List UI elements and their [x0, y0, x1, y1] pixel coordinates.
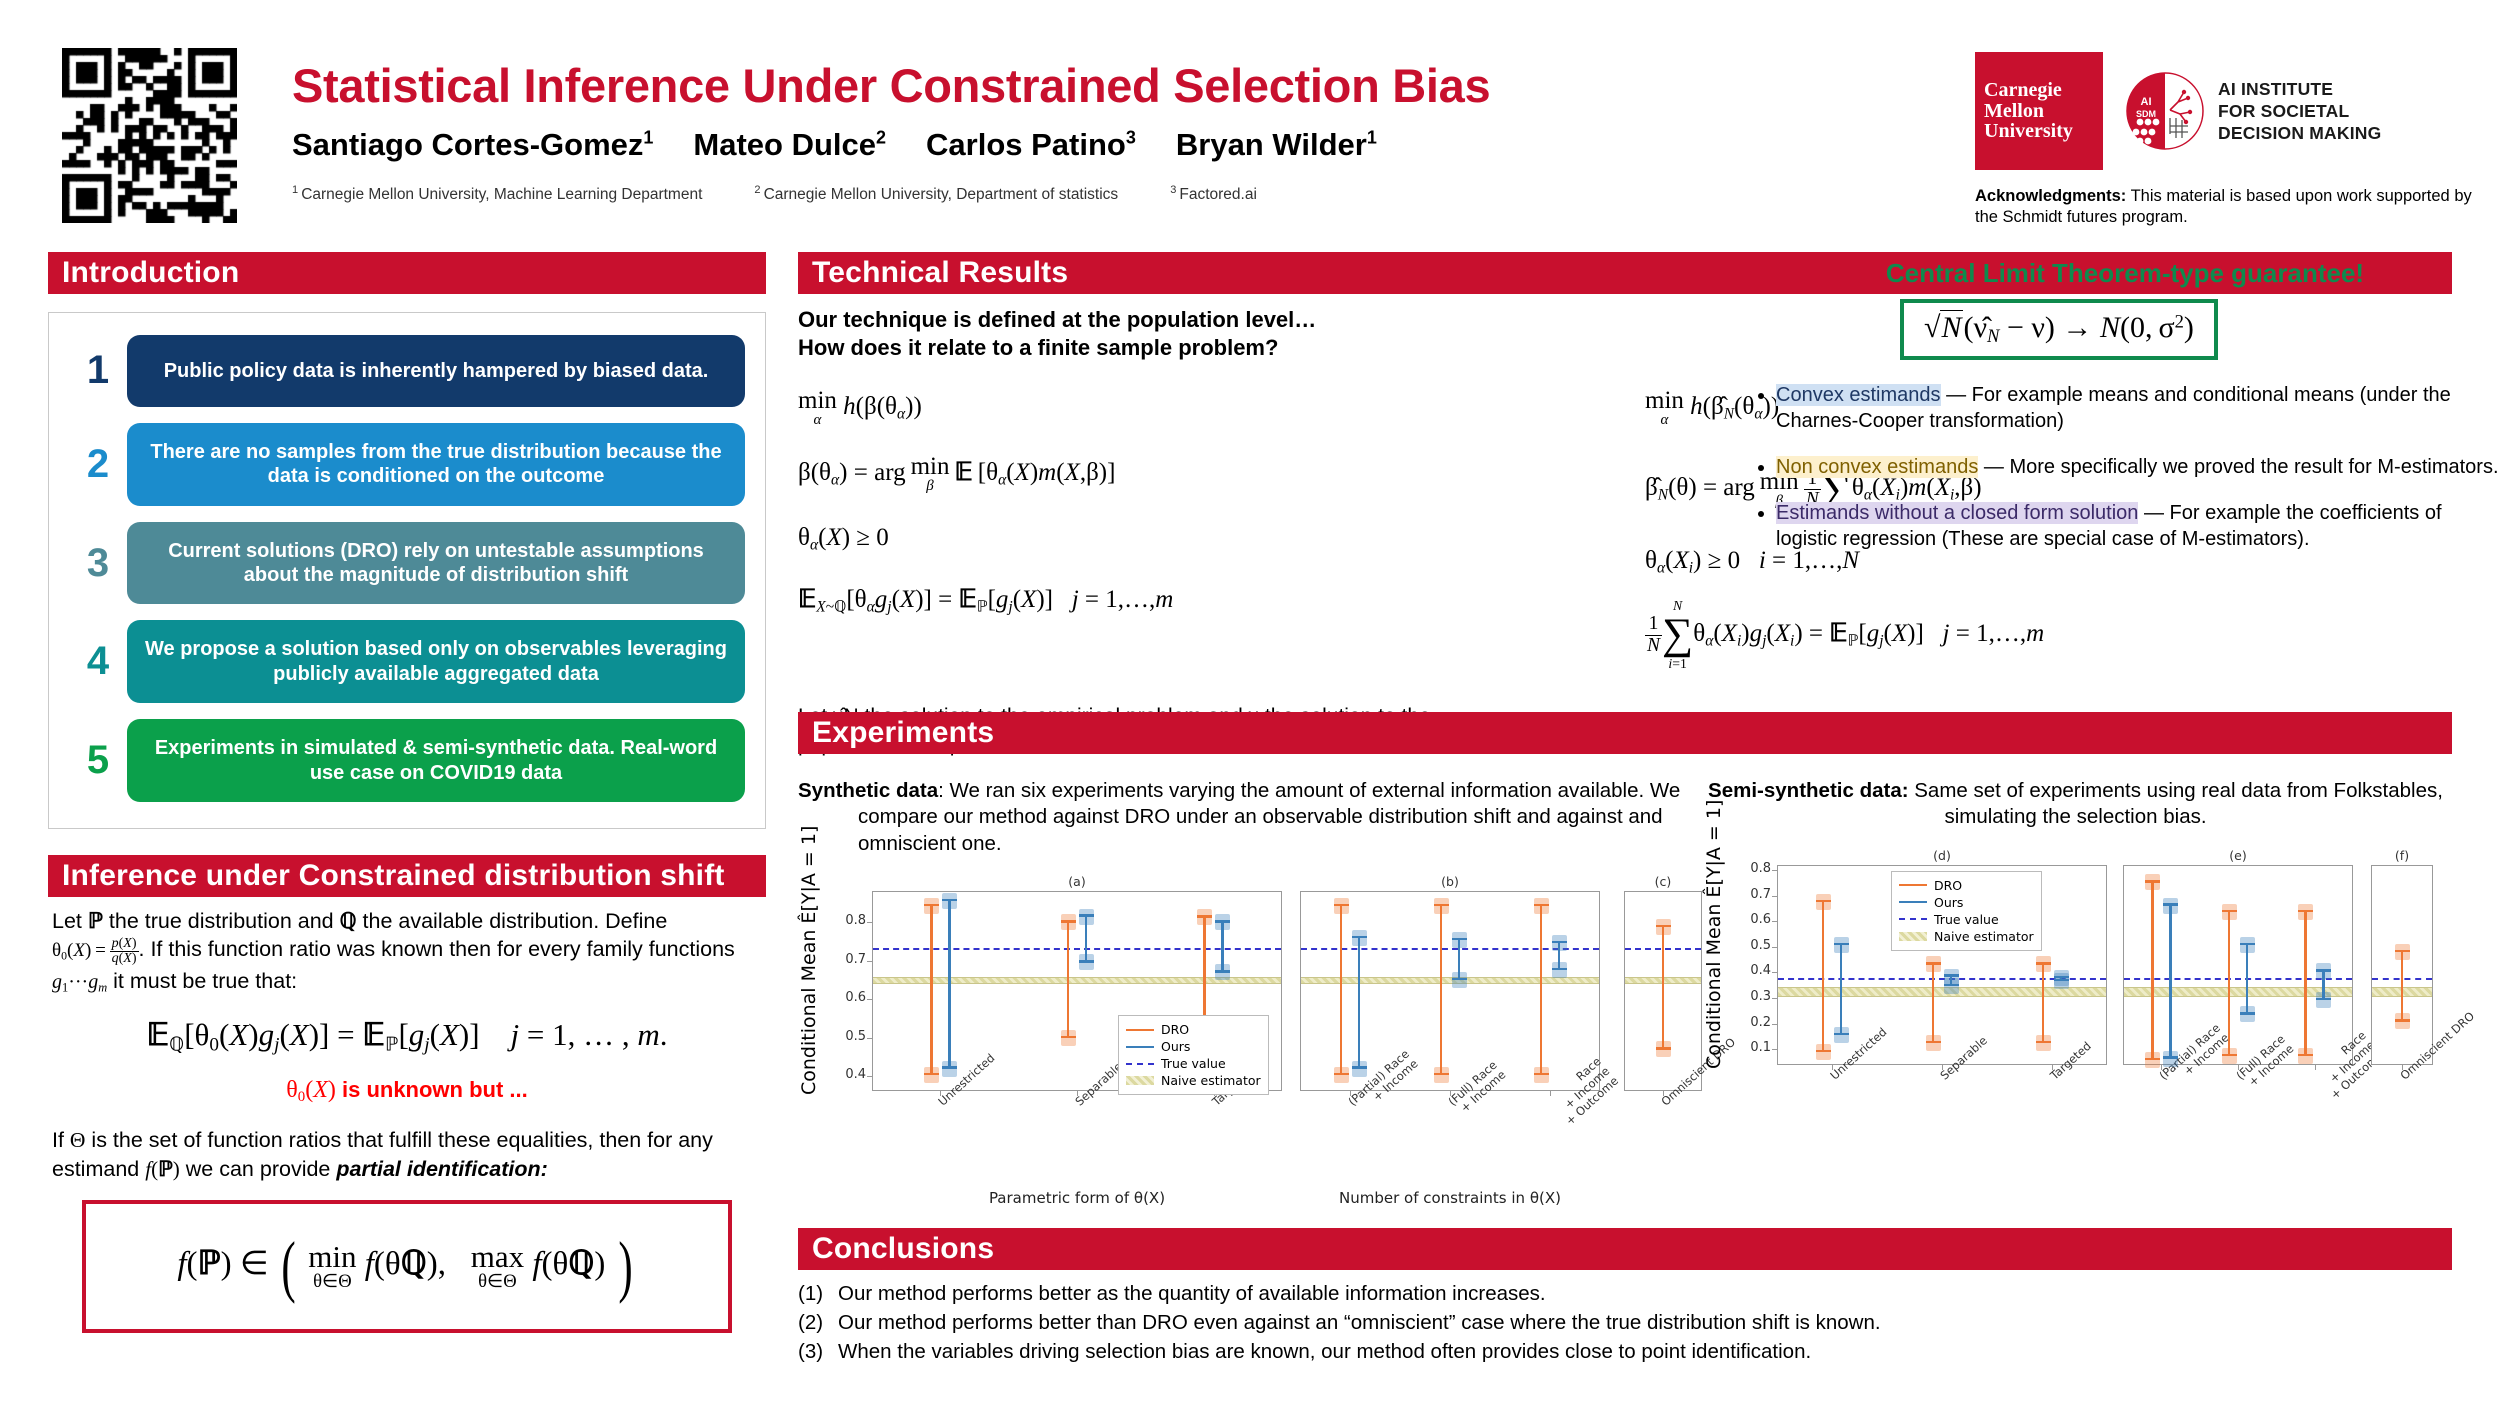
shift-paragraph-2: If Θ is the set of function ratios that … — [52, 1126, 762, 1184]
intro-step-number: 2 — [69, 442, 127, 487]
chart-interval-bar-ours — [1458, 939, 1460, 979]
clt-equation-box: √N(ν̂N − ν) → N(0, σ2) — [1900, 299, 2218, 360]
clt-bullet-highlight: Convex estimands — [1776, 384, 1941, 406]
intro-step-text: Experiments in simulated & semi-syntheti… — [127, 719, 745, 802]
semi-synthetic-experiment-block: Semi-synthetic data: Same set of experim… — [1703, 766, 2448, 1196]
chart-interval-cap — [1834, 943, 1849, 945]
introduction-steps: 1Public policy data is inherently hamper… — [48, 312, 766, 830]
chart-legend: DROOursTrue valueNaive estimator — [1891, 871, 2042, 951]
chart-interval-cap — [1944, 974, 1959, 976]
chart-legend-label: True value — [1161, 1056, 1226, 1071]
chart-interval-cap — [1926, 1041, 1941, 1043]
chart-interval-cap — [1944, 984, 1959, 986]
chart-y-axis-label: Conditional Mean Ê[Y|A = 1] — [1703, 861, 1725, 1069]
chart-legend-label: Ours — [1161, 1039, 1190, 1054]
semi-synthetic-text: Same set of experiments using real data … — [1909, 779, 2443, 829]
shift-paragraph-1: Let ℙ the true distribution and ℚ the av… — [52, 907, 762, 997]
chart-legend: DROOursTrue valueNaive estimator — [1118, 1015, 1269, 1095]
chart-y-tick-label: 0.5 — [1725, 938, 1771, 953]
chart-legend-label: Naive estimator — [1161, 1073, 1261, 1088]
chart-interval-bar-ours — [2322, 970, 2324, 999]
chart-interval-cap — [2036, 962, 2051, 964]
chart-legend-swatch — [1899, 884, 1927, 886]
chart-interval-bar-dro — [2228, 911, 2230, 1055]
chart-y-tick-label: 0.3 — [1725, 989, 1771, 1004]
ai-sdm-mark-icon: AI SDM — [2125, 71, 2205, 151]
chart-interval-cap — [2054, 976, 2069, 978]
chart-legend-label: DRO — [1161, 1022, 1189, 1037]
chart-interval-cap — [1834, 1033, 1849, 1035]
chart-y-tick-label: 0.8 — [820, 913, 866, 928]
clt-bullet: Estimands without a closed form solution… — [1776, 500, 2500, 552]
chart-interval-bar-dro — [2042, 963, 2044, 1042]
chart-interval-bar-dro — [1822, 901, 1824, 1051]
author-name: Bryan Wilder1 — [1176, 127, 1377, 162]
chart-interval-bar-ours — [1558, 942, 1560, 969]
chart-interval-bar-dro — [2304, 911, 2306, 1055]
svg-text:AI: AI — [2141, 96, 2152, 108]
chart-interval-cap — [1656, 1047, 1671, 1049]
conclusion-item: (1)Our method performs better as the qua… — [798, 1279, 2452, 1308]
chart-true-value-line — [873, 948, 1281, 950]
shift-p1-e: it must be true that: — [107, 969, 297, 993]
ai-sdm-logo-text: AI INSTITUTEFOR SOCIETALDECISION MAKING — [2218, 78, 2381, 144]
chart-panel-title: (f) — [2371, 848, 2433, 863]
intro-step-4: 4We propose a solution based only on obs… — [69, 620, 745, 703]
conclusions-list: (1)Our method performs better as the qua… — [798, 1279, 2452, 1366]
chart-interval-cap — [1926, 962, 1941, 964]
chart-y-tick-label: 0.7 — [1725, 887, 1771, 902]
author-name: Mateo Dulce2 — [693, 127, 886, 162]
chart-legend-label: Ours — [1934, 895, 1963, 910]
clt-bullet: Convex estimands — For example means and… — [1776, 382, 2500, 434]
chart-panel-title: (b) — [1300, 874, 1600, 889]
clt-bullet-highlight: Non convex estimands — [1776, 456, 1978, 478]
chart-legend-label: True value — [1934, 912, 1999, 927]
chart-interval-bar-dro — [1932, 963, 1934, 1042]
clt-guarantee-panel: Central Limit Theorem-type guarantee! √N… — [1750, 258, 2500, 572]
chart-panel-title: (a) — [872, 874, 1282, 889]
chart-legend-item: Ours — [1899, 894, 2034, 911]
chart-interval-cap — [942, 899, 957, 901]
chart-legend-swatch — [1899, 932, 1927, 941]
shift-p1-b: the true distribution and — [103, 909, 340, 933]
conclusion-text: Our method performs better than DRO even… — [838, 1308, 1881, 1337]
chart-interval-cap — [1552, 941, 1567, 943]
chart-interval-cap — [2395, 950, 2410, 952]
chart-legend-item: Naive estimator — [1899, 928, 2034, 945]
chart-x-axis-label: Number of constraints in θ(X) — [1270, 1189, 1630, 1207]
chart-y-tick-label: 0.6 — [820, 990, 866, 1005]
theta-unknown-note: θ0(X) is unknown but ... — [52, 1074, 762, 1108]
chart-interval-cap — [2395, 1019, 2410, 1021]
author-name: Santiago Cortes-Gomez1 — [292, 127, 653, 162]
acknowledgments-label: Acknowledgments: — [1975, 187, 2126, 205]
chart-legend-label: Naive estimator — [1934, 929, 2034, 944]
chart-interval-cap — [942, 1066, 957, 1068]
chart-y-tick-label: 0.6 — [1725, 912, 1771, 927]
chart-interval-cap — [1079, 960, 1094, 962]
chart-interval-cap — [1434, 1073, 1449, 1075]
population-eq-3: θα(X) ≥ 0 — [798, 524, 1605, 554]
conclusion-item: (3)When the variables driving selection … — [798, 1337, 2452, 1366]
chart-y-tick-label: 0.2 — [1725, 1015, 1771, 1030]
author-name: Carlos Patino3 — [926, 127, 1136, 162]
chart-interval-cap — [1197, 915, 1212, 917]
chart-interval-cap — [2163, 1056, 2178, 1058]
chart-interval-cap — [2240, 1012, 2255, 1014]
chart-interval-cap — [1452, 978, 1467, 980]
author-list: Santiago Cortes-Gomez1Mateo Dulce2Carlos… — [292, 127, 1417, 163]
chart-legend-swatch — [1899, 901, 1927, 903]
ai-sdm-logo: AI SDM — [2125, 71, 2381, 151]
shift-equation: 𝔼ℚ[θ0(X)gj(X)] = 𝔼ℙ[gj(X)] j = 1, … , m. — [52, 1014, 762, 1058]
chart-interval-bar-dro — [2151, 881, 2153, 1058]
chart-panel-title: (c) — [1624, 874, 1702, 889]
clt-bullet-text: — More specifically we proved the result… — [1978, 456, 2498, 478]
chart-legend-label: DRO — [1934, 878, 1962, 893]
intro-step-text: There are no samples from the true distr… — [127, 423, 745, 506]
intro-step-text: Public policy data is inherently hampere… — [127, 335, 745, 407]
chart-x-axis-label: Parametric form of θ(X) — [842, 1189, 1312, 1207]
intro-step-number: 5 — [69, 738, 127, 783]
chart-y-axis-label: Conditional Mean Ê[Y|A = 1] — [798, 887, 820, 1095]
chart-legend-swatch — [1126, 1046, 1154, 1048]
conclusion-number: (2) — [798, 1308, 838, 1337]
chart-interval-bar-dro — [930, 905, 932, 1074]
population-eq-2: β(θα) = arg minβ 𝔼 [θα(X)m(X,β)] — [798, 454, 1605, 494]
chart-interval-cap — [1079, 914, 1094, 916]
svg-text:SDM: SDM — [2136, 109, 2156, 119]
chart-interval-cap — [1352, 936, 1367, 938]
intro-step-number: 1 — [69, 348, 127, 393]
semi-synthetic-figure: Conditional Mean Ê[Y|A = 1]0.10.20.30.40… — [1703, 839, 2448, 1169]
chart-interval-cap — [1334, 904, 1349, 906]
chart-legend-item: Naive estimator — [1126, 1072, 1261, 1089]
chart-interval-bar-dro — [1440, 905, 1442, 1074]
shift-p1-c: the available distribution. Define — [357, 909, 668, 933]
chart-interval-bar-ours — [2246, 944, 2248, 1014]
chart-interval-cap — [924, 904, 939, 906]
chart-interval-cap — [2298, 910, 2313, 912]
intro-step-number: 4 — [69, 639, 127, 684]
chart-interval-cap — [2240, 943, 2255, 945]
chart-interval-cap — [2316, 969, 2331, 971]
poster-header: Statistical Inference Under Constrained … — [0, 0, 2500, 235]
intro-step-text: Current solutions (DRO) rely on untestab… — [127, 522, 745, 605]
chart-interval-cap — [1215, 920, 1230, 922]
chart-interval-cap — [1061, 1036, 1076, 1038]
chart-legend-item: DRO — [1126, 1021, 1261, 1038]
chart-panel-b — [1300, 891, 1600, 1091]
chart-legend-item: Ours — [1126, 1038, 1261, 1055]
shift-p2-c: we can provide — [180, 1157, 337, 1181]
section-header-introduction: Introduction — [48, 252, 766, 294]
chart-interval-cap — [1816, 1050, 1831, 1052]
semi-synthetic-description: Semi-synthetic data: Same set of experim… — [1703, 766, 2448, 831]
population-eq-4: 𝔼X~ℚ[θαgj(X)] = 𝔼ℙ[gj(X)] j = 1,…,m — [798, 584, 1605, 616]
chart-interval-cap — [2298, 1054, 2313, 1056]
chart-interval-bar-dro — [2401, 951, 2403, 1020]
chart-interval-cap — [2316, 998, 2331, 1000]
shift-p1-a: Let — [52, 909, 88, 933]
chart-interval-bar-ours — [1085, 916, 1087, 962]
affiliation: 3 Factored.ai — [1170, 186, 1257, 203]
partial-identification-box: f(ℙ) ∈ ( minθ∈Θ f(θℚ), maxθ∈Θ f(θℚ) ) — [82, 1200, 732, 1333]
chart-interval-cap — [1552, 968, 1567, 970]
chart-y-tick-label: 0.1 — [1725, 1040, 1771, 1055]
chart-panel-title: (d) — [1777, 848, 2107, 863]
clt-bullet-list: Convex estimands — For example means and… — [1750, 382, 2500, 552]
shift-body: Let ℙ the true distribution and ℚ the av… — [48, 897, 766, 1333]
experiments-columns: Synthetic data: We ran six experiments v… — [798, 766, 2452, 1196]
chart-y-tick-label: 0.8 — [1725, 861, 1771, 876]
empirical-eq-4: 1NN∑i=1θα(Xi)gj(Xi) = 𝔼ℙ[gj(X)] j = 1,…,… — [1645, 599, 2452, 670]
chart-legend-item: True value — [1899, 911, 2034, 928]
conclusion-item: (2)Our method performs better than DRO e… — [798, 1308, 2452, 1337]
chart-interval-bar-ours — [1358, 937, 1360, 1068]
chart-legend-swatch — [1126, 1063, 1154, 1065]
chart-interval-bar-ours — [2169, 905, 2171, 1058]
chart-legend-swatch — [1126, 1076, 1154, 1085]
section-header-experiments: Experiments — [798, 712, 2452, 754]
chart-interval-cap — [1215, 970, 1230, 972]
chart-legend-item: DRO — [1899, 877, 2034, 894]
chart-interval-cap — [2054, 979, 2069, 981]
shift-p2-a: If — [52, 1128, 70, 1152]
chart-interval-cap — [1534, 1073, 1549, 1075]
chart-interval-bar-dro — [1067, 921, 1069, 1036]
chart-y-tick-label: 0.7 — [820, 952, 866, 967]
chart-panel-title: (e) — [2123, 848, 2353, 863]
intro-step-2: 2There are no samples from the true dist… — [69, 423, 745, 506]
acknowledgments: Acknowledgments: This material is based … — [1975, 186, 2480, 229]
theta-unknown-text: is unknown but ... — [342, 1077, 528, 1102]
chart-interval-cap — [2145, 880, 2160, 882]
chart-interval-cap — [2145, 1058, 2160, 1060]
chart-interval-cap — [1434, 904, 1449, 906]
chart-interval-bar-dro — [1662, 926, 1664, 1048]
chart-interval-cap — [1061, 920, 1076, 922]
qr-code — [62, 48, 237, 223]
intro-step-5: 5Experiments in simulated & semi-synthet… — [69, 719, 745, 802]
conclusion-number: (3) — [798, 1337, 838, 1366]
conclusions-section: Conclusions (1)Our method performs bette… — [798, 1228, 2452, 1366]
section-header-inference-under-constrained-distribution-shift: Inference under Constrained distribution… — [48, 855, 766, 897]
intro-step-3: 3Current solutions (DRO) rely on untesta… — [69, 522, 745, 605]
population-equations: minα h(β(θα)) β(θα) = arg minβ 𝔼 [θα(X)m… — [798, 388, 1605, 697]
chart-interval-cap — [2222, 1054, 2237, 1056]
chart-interval-cap — [1452, 938, 1467, 940]
chart-interval-cap — [1816, 900, 1831, 902]
population-eq-1: minα h(β(θα)) — [798, 388, 1605, 428]
chart-interval-cap — [2222, 910, 2237, 912]
chart-naive-estimator-band — [1301, 977, 1599, 984]
logo-row: CarnegieMellonUniversity AI SDM — [1975, 52, 2381, 170]
section-header-conclusions: Conclusions — [798, 1228, 2452, 1270]
chart-legend-swatch — [1126, 1029, 1154, 1031]
left-column: Introduction 1Public policy data is inhe… — [48, 252, 766, 1333]
chart-interval-bar-ours — [1221, 921, 1223, 971]
carnegie-mellon-logo: CarnegieMellonUniversity — [1975, 52, 2103, 170]
chart-y-tick-label: 0.4 — [820, 1067, 866, 1082]
synthetic-text: : We ran six experiments varying the amo… — [858, 779, 1680, 855]
page-title: Statistical Inference Under Constrained … — [292, 58, 1490, 113]
shift-p1-d: . If this function ratio was known then … — [139, 937, 735, 961]
chart-interval-bar-ours — [1840, 944, 1842, 1034]
shift-p2-bold: partial identification: — [336, 1157, 547, 1181]
conclusion-number: (1) — [798, 1279, 838, 1308]
clt-bullet-highlight: Estimands without a closed form solution — [1776, 502, 2138, 524]
chart-interval-cap — [1334, 1073, 1349, 1075]
clt-title: Central Limit Theorem-type guarantee! — [1750, 258, 2500, 289]
chart-y-tick-label: 0.5 — [820, 1029, 866, 1044]
chart-interval-cap — [2163, 903, 2178, 905]
intro-step-number: 3 — [69, 541, 127, 586]
chart-interval-bar-dro — [1340, 905, 1342, 1074]
affiliation-list: 1 Carnegie Mellon University, Machine Le… — [292, 184, 1309, 204]
chart-interval-cap — [1656, 925, 1671, 927]
synthetic-experiment-block: Synthetic data: We ran six experiments v… — [798, 766, 1703, 1196]
chart-interval-cap — [2036, 1041, 2051, 1043]
conclusion-text: When the variables driving selection bia… — [838, 1337, 1811, 1366]
chart-legend-item: True value — [1126, 1055, 1261, 1072]
conclusion-text: Our method performs better as the quanti… — [838, 1279, 1546, 1308]
chart-interval-cap — [924, 1073, 939, 1075]
experiments-section: Experiments Synthetic data: We ran six e… — [798, 712, 2452, 1195]
synthetic-figure: Conditional Mean Ê[Y|A = 1]0.40.50.60.70… — [798, 865, 1703, 1195]
affiliation: 2 Carnegie Mellon University, Department… — [754, 186, 1118, 203]
chart-interval-cap — [1534, 904, 1549, 906]
clt-bullet: Non convex estimands — More specifically… — [1776, 454, 2500, 480]
chart-interval-bar-ours — [948, 900, 950, 1067]
intro-step-1: 1Public policy data is inherently hamper… — [69, 335, 745, 407]
chart-legend-swatch — [1899, 918, 1927, 920]
chart-y-tick-label: 0.4 — [1725, 963, 1771, 978]
chart-interval-cap — [1352, 1066, 1367, 1068]
intro-step-text: We propose a solution based only on obse… — [127, 620, 745, 703]
synthetic-description: Synthetic data: We ran six experiments v… — [798, 766, 1703, 858]
affiliation: 1 Carnegie Mellon University, Machine Le… — [292, 186, 702, 203]
semi-synthetic-label: Semi-synthetic data: — [1708, 779, 1909, 802]
chart-interval-bar-dro — [1540, 905, 1542, 1074]
synthetic-label: Synthetic data — [798, 779, 938, 802]
